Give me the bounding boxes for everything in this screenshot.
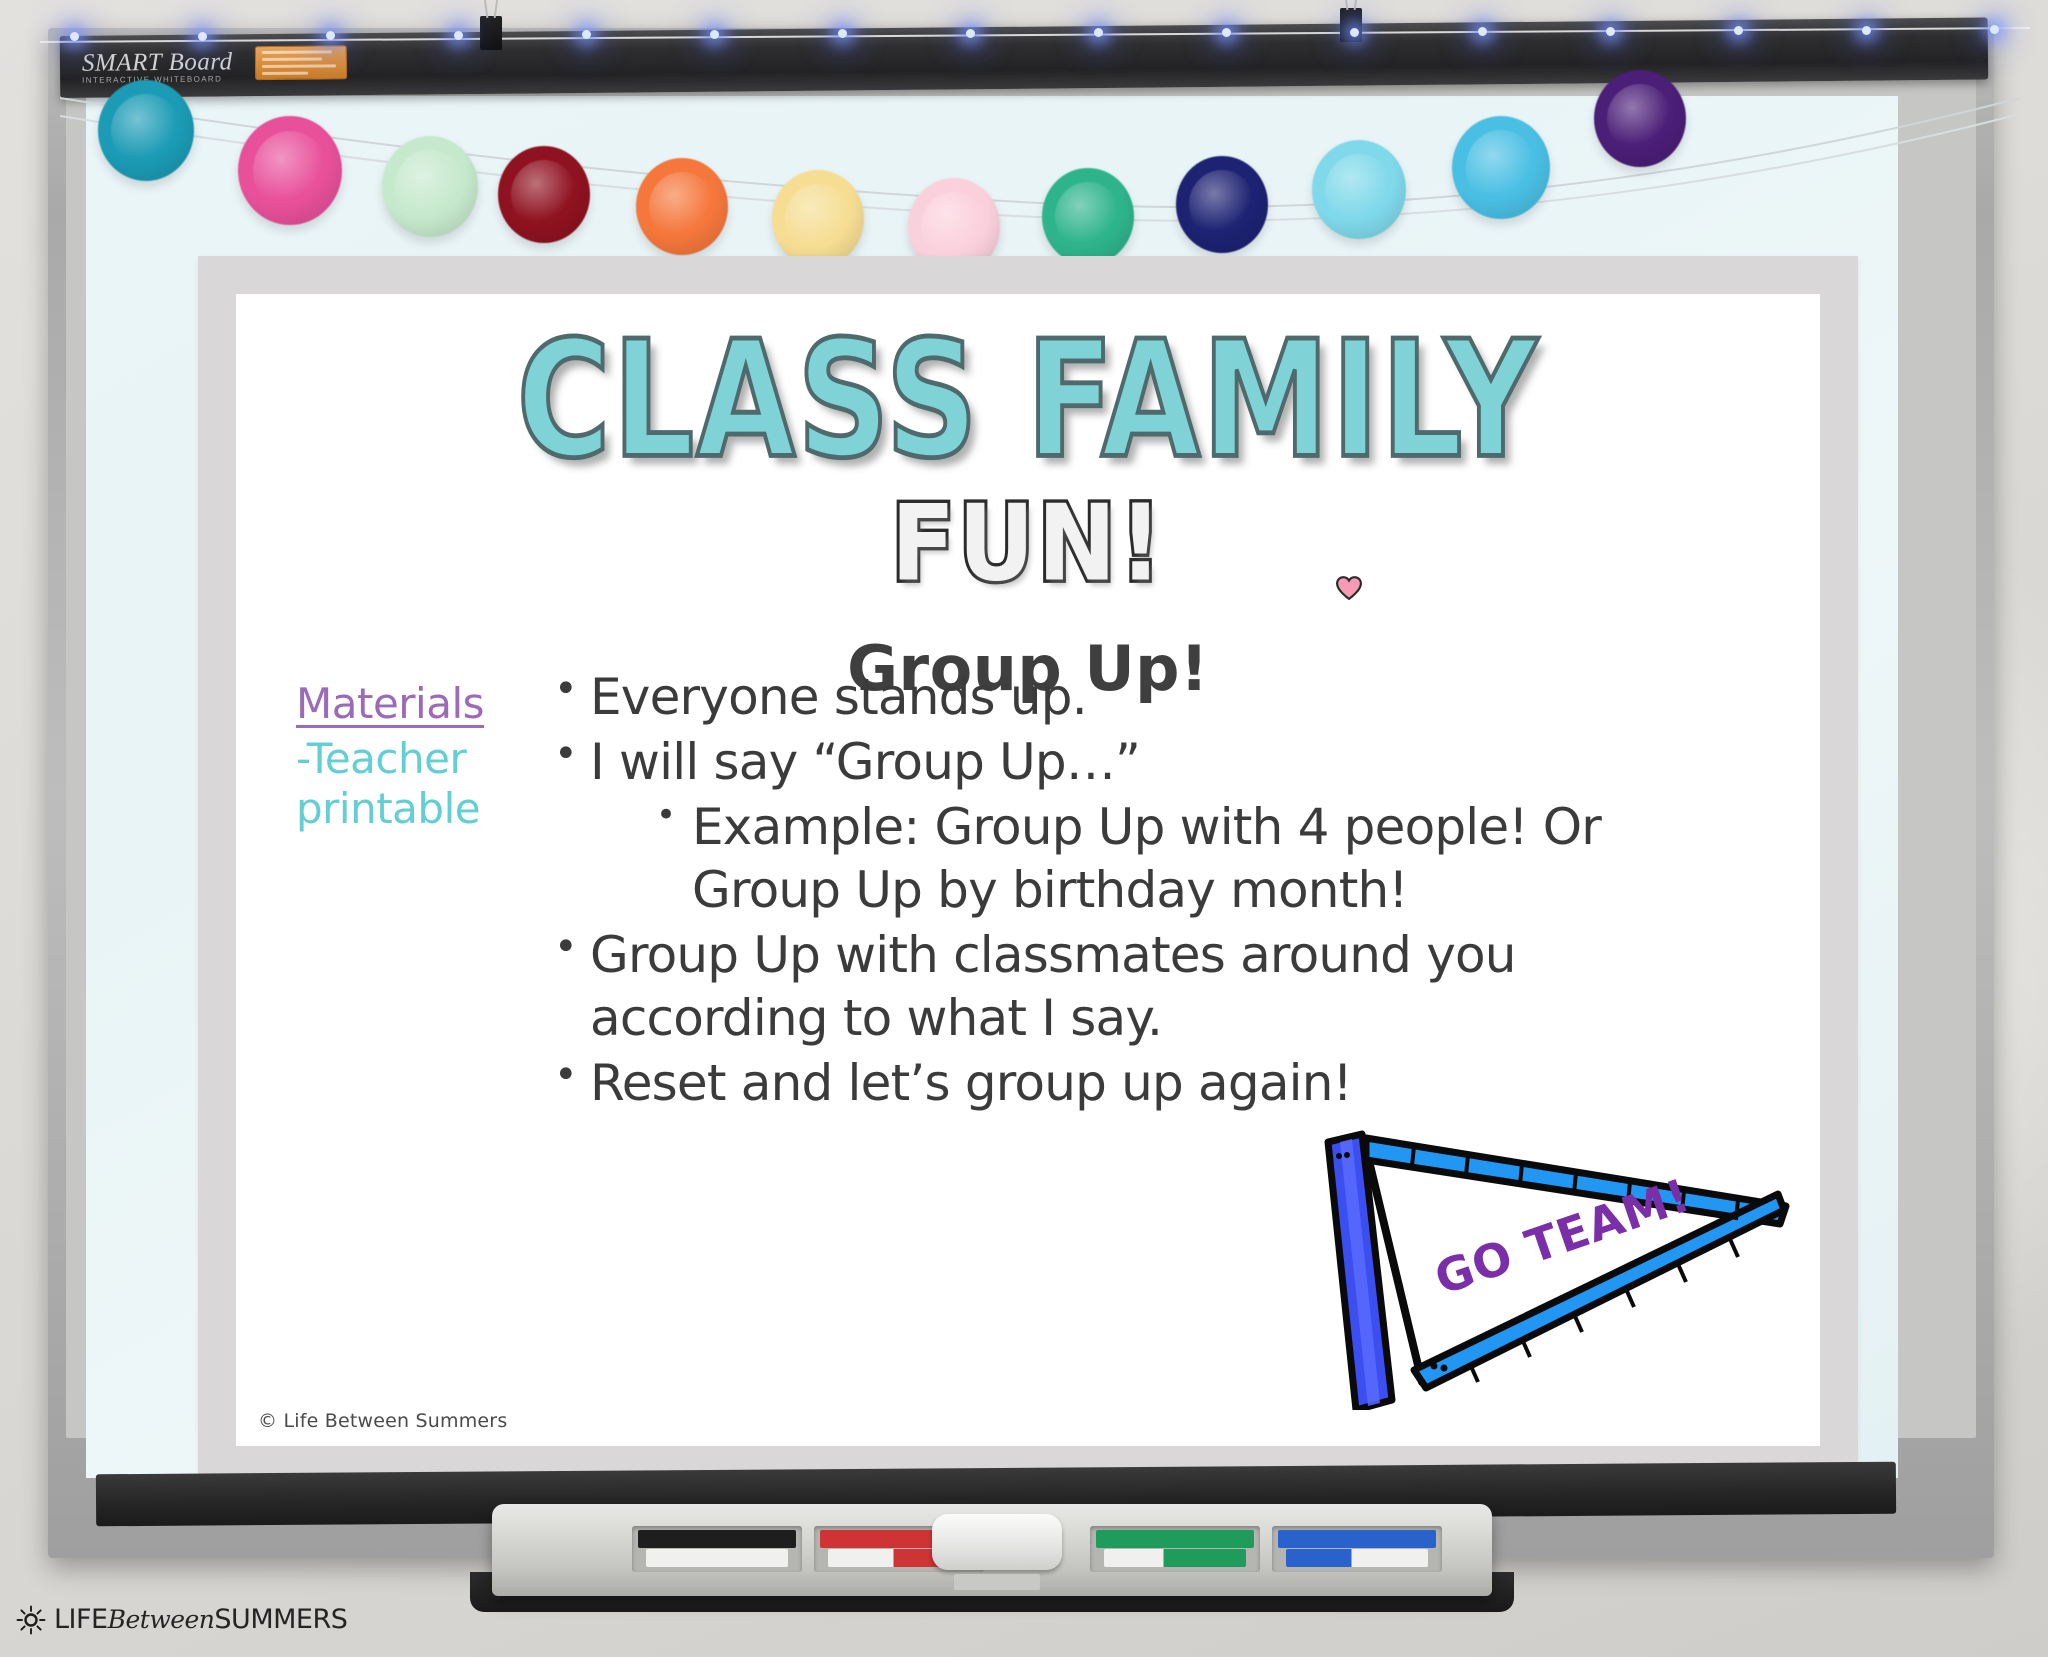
materials-heading: Materials (296, 680, 536, 728)
list-item-text: Group Up with classmates around you acco… (590, 926, 1516, 1047)
slide-frame: CLASS FAMILY FUN! Group Up! Materials -T… (198, 256, 1858, 1484)
list-item: Example: Group Up with 4 people! Or Grou… (650, 796, 1750, 922)
eraser-buttons[interactable] (954, 1574, 1040, 1590)
heart-icon (1336, 576, 1362, 600)
list-item: Reset and let’s group up again! (546, 1052, 1750, 1115)
classroom-scene: SMART Board INTERACTIVE WHITEBOARD CLASS… (0, 0, 2048, 1657)
materials-item: printable (296, 784, 536, 834)
blue-marker-body[interactable] (1286, 1549, 1428, 1567)
pennant-body (1364, 1138, 1786, 1388)
watermark: LIFEBetweenSUMMERS (16, 1604, 347, 1635)
brand-logo-text: SMART Board (82, 48, 233, 76)
materials-column: Materials -Teacher printable (236, 666, 536, 833)
smartboard-brand-logo: SMART Board INTERACTIVE WHITEBOARD (82, 48, 233, 84)
list-item: Everyone stands up. (546, 666, 1750, 729)
list-item: I will say “Group Up…” Example: Group Up… (546, 731, 1750, 922)
materials-list: -Teacher printable (296, 734, 536, 833)
watermark-part3: SUMMERS (214, 1604, 347, 1635)
black-marker-body[interactable] (646, 1549, 788, 1567)
list-item: Group Up with classmates around you acco… (546, 924, 1750, 1050)
instruction-sublist: Example: Group Up with 4 people! Or Grou… (650, 796, 1750, 922)
product-label (255, 45, 347, 80)
instructions-column: Everyone stands up. I will say “Group Up… (536, 666, 1820, 1117)
list-item-text: Example: Group Up with 4 people! Or Grou… (692, 798, 1601, 919)
marker-slot-blue[interactable] (1272, 1526, 1442, 1572)
black-marker[interactable] (638, 1530, 796, 1548)
sun-icon (16, 1605, 46, 1635)
pennant-flag-icon: GO TEAM! (1322, 1120, 1792, 1410)
copyright-notice: © Life Between Summers (258, 1410, 507, 1432)
green-marker[interactable] (1096, 1530, 1254, 1548)
blue-marker[interactable] (1278, 1530, 1436, 1548)
marker-slot-green[interactable] (1090, 1526, 1260, 1572)
watermark-part1: LIFE (54, 1604, 108, 1635)
watermark-part2: Between (108, 1605, 215, 1634)
slide-title-secondary: FUN! (891, 492, 1165, 597)
slide-body: Materials -Teacher printable Everyone st… (236, 666, 1820, 1117)
instruction-list: Everyone stands up. I will say “Group Up… (546, 666, 1750, 1115)
eraser[interactable] (932, 1514, 1062, 1570)
pen-tray (492, 1504, 1492, 1596)
list-item-text: Everyone stands up. (590, 668, 1087, 726)
slide-title-secondary-wrap: FUN! (236, 498, 1820, 592)
list-item-text: I will say “Group Up…” (590, 733, 1140, 791)
materials-item: -Teacher (296, 734, 536, 784)
green-marker-body[interactable] (1104, 1549, 1246, 1567)
brand-logo-sub: INTERACTIVE WHITEBOARD (82, 74, 233, 84)
list-item-text: Reset and let’s group up again! (590, 1054, 1352, 1112)
marker-slot-black[interactable] (632, 1526, 802, 1572)
slide-title-primary: CLASS FAMILY (260, 320, 1796, 481)
watermark-text: LIFEBetweenSUMMERS (54, 1604, 347, 1635)
slide-content: CLASS FAMILY FUN! Group Up! Materials -T… (236, 294, 1820, 1446)
